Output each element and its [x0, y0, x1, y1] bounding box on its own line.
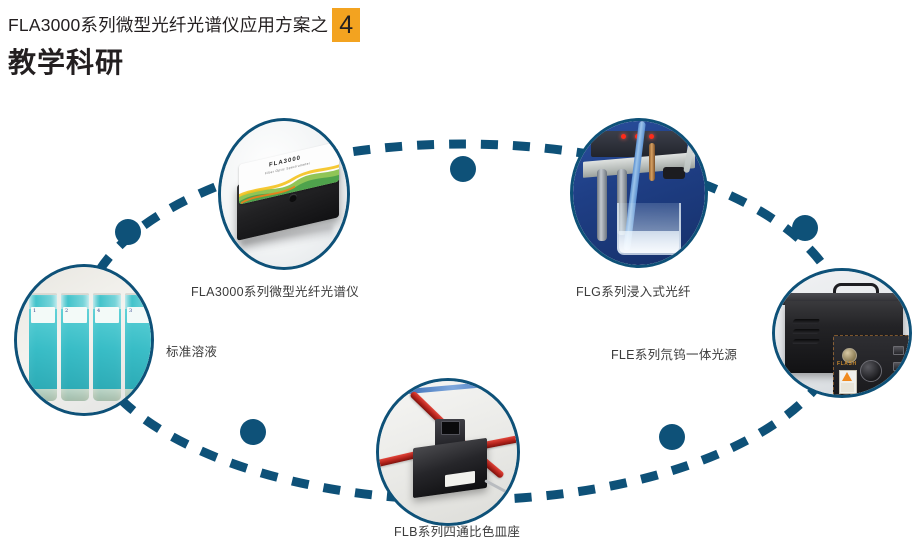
caption-solution: 标准溶液	[166, 341, 217, 360]
source-vent-3	[792, 339, 820, 344]
probe-beaker-liquid	[619, 231, 679, 253]
node-holder-image	[379, 381, 517, 523]
vial-1: 1	[29, 293, 57, 401]
holder-cuvette-well	[441, 421, 460, 435]
diagram-stage: FLA3000 Fiber Optic Spectrometer FLA3000…	[0, 0, 920, 547]
vial-4-label: 3	[127, 307, 151, 323]
junction-dot-top-left	[115, 219, 141, 245]
caption-spectrometer: FLA3000系列微型光纤光谱仪	[191, 281, 359, 300]
junction-dot-top-right	[792, 215, 818, 241]
source-vent-2	[792, 329, 820, 334]
node-source-image: FLASH	[775, 271, 909, 395]
source-warning-label	[839, 370, 857, 394]
source-vent-1	[792, 319, 820, 324]
source-brand-text: FLASH	[837, 361, 857, 367]
vial-3-sediment	[93, 389, 121, 401]
junction-dot-bottom-right	[659, 424, 685, 450]
vial-2: 2	[61, 293, 89, 401]
probe-led-1	[621, 134, 626, 139]
vial-4: 3	[125, 293, 151, 401]
vial-2-label: 2	[63, 307, 87, 323]
source-body: FLASH	[785, 301, 903, 373]
source-port-1	[893, 346, 904, 355]
vial-1-sediment	[29, 389, 57, 401]
node-cuvette-holder[interactable]	[376, 378, 520, 526]
node-immersion-probe[interactable]	[570, 118, 708, 268]
caption-probe: FLG系列浸入式光纤	[576, 281, 691, 300]
probe-clamp	[663, 167, 685, 179]
vial-4-cap	[125, 293, 151, 295]
junction-dot-bottom-left	[240, 419, 266, 445]
source-port-3	[893, 378, 904, 387]
node-standard-solution[interactable]: 1 2 4 3	[14, 264, 154, 416]
vial-3: 4	[93, 293, 121, 401]
junction-dot-top	[450, 156, 476, 182]
caption-holder: FLB系列四通比色皿座	[394, 521, 520, 540]
vial-1-label: 1	[31, 307, 55, 323]
node-solution-image: 1 2 4 3	[17, 267, 151, 413]
holder-base	[413, 438, 487, 498]
probe-fiber-connector	[649, 143, 655, 181]
vial-3-cap	[93, 293, 121, 295]
vial-3-label: 4	[95, 307, 119, 323]
node-spectrometer-image: FLA3000 Fiber Optic Spectrometer	[221, 121, 347, 267]
vial-1-cap	[29, 293, 57, 295]
node-probe-image	[573, 121, 705, 265]
vial-2-cap	[61, 293, 89, 295]
source-port-2	[893, 362, 904, 371]
vial-4-sediment	[125, 389, 151, 401]
probe-stand-left	[597, 169, 607, 241]
caption-source: FLE系列氘钨一体光源	[611, 344, 737, 363]
node-spectrometer[interactable]: FLA3000 Fiber Optic Spectrometer	[218, 118, 350, 270]
node-light-source[interactable]: FLASH	[772, 268, 912, 398]
vial-2-sediment	[61, 389, 89, 401]
source-knob[interactable]	[860, 360, 882, 382]
probe-led-3	[649, 134, 654, 139]
probe-beaker	[617, 203, 681, 255]
